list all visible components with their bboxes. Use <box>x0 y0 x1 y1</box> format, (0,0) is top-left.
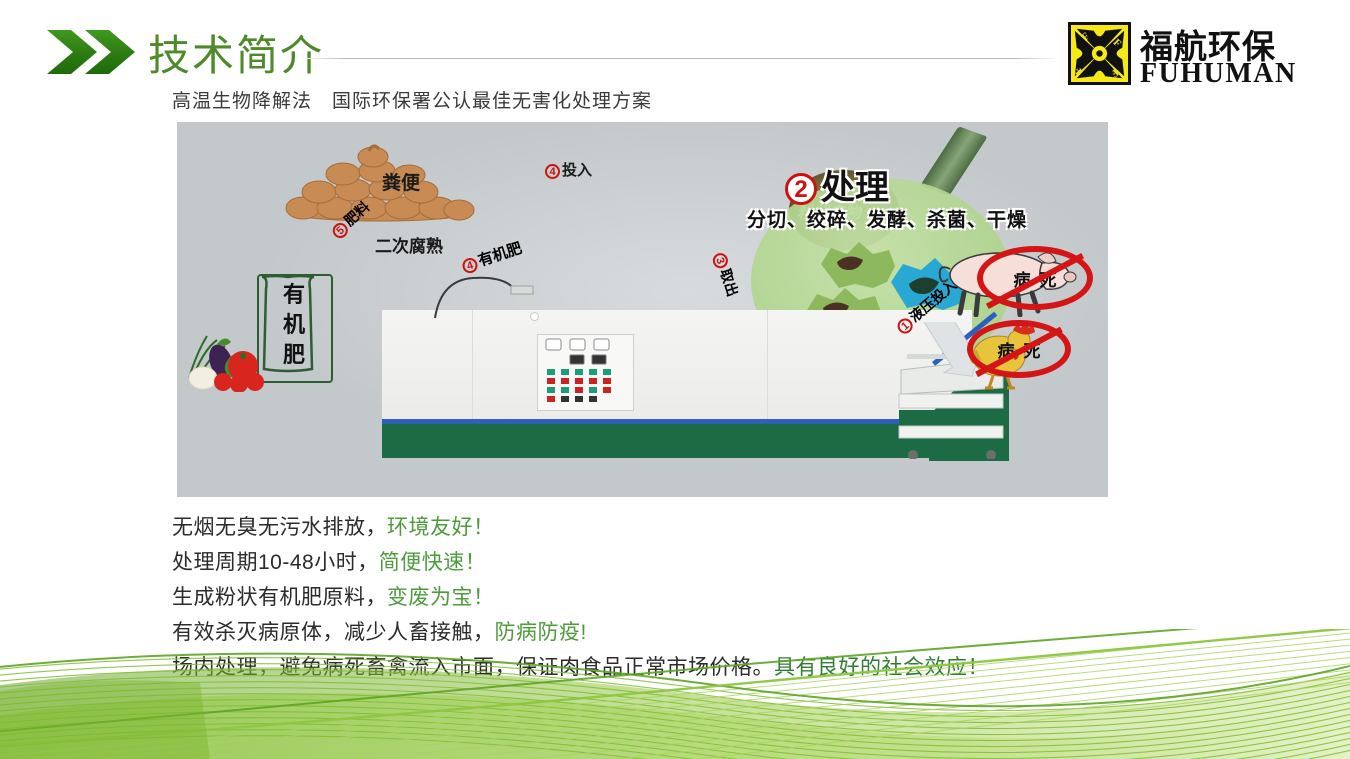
label-second-fermentation: 二次腐熟 <box>375 232 443 257</box>
sack-label: 有机肥 <box>272 280 316 370</box>
list-item: 生成粉状有机肥原料，变废为宝！ <box>172 580 1172 615</box>
bullet-plain: 无烟无臭无污水排放， <box>172 516 387 539</box>
logo-english-name: FUHUMAN <box>1140 58 1297 90</box>
page-subtitle: 高温生物降解法 国际环保署公认最佳无害化处理方案 <box>172 86 652 113</box>
bullet-highlight: 变废为宝！ <box>387 586 495 609</box>
label-manure: 粪便 <box>382 168 420 195</box>
label-process-steps: 分切、绞碎、发酵、杀菌、干燥 <box>747 205 1027 232</box>
label-text: 处理 <box>821 169 889 207</box>
fuhuman-four-petal-gear-icon: F F F F <box>1068 22 1131 85</box>
chicken-prohibited-badge: 病死 <box>967 320 1071 378</box>
list-item: 处理周期10-48小时，简便快速！ <box>172 545 1172 580</box>
bullet-highlight: 环境友好！ <box>387 516 495 539</box>
process-diagram-image: 粪便 4投入 5肥料 二次腐熟 4有机肥 有机肥 <box>177 122 1108 497</box>
pig-prohibited-badge: 病死 <box>977 246 1093 310</box>
bottom-ribbon-decoration <box>0 629 1350 759</box>
label-step4-input: 4投入 <box>545 159 592 180</box>
bullet-plain: 生成粉状有机肥原料， <box>172 586 387 609</box>
title-divider <box>300 58 1060 59</box>
manure-pile-icon <box>285 142 475 222</box>
company-logo: F F F F 福航环保 FUHUMAN <box>1068 22 1333 88</box>
machine-arm-icon <box>429 272 539 322</box>
list-item: 无烟无臭无污水排放，环境友好！ <box>172 510 1172 545</box>
page-title: 技术简介 <box>148 22 324 83</box>
bullet-highlight: 简便快速！ <box>379 551 487 574</box>
machine-green-stripe <box>382 424 942 458</box>
label-text: 投入 <box>562 162 592 179</box>
machine-control-panel[interactable] <box>537 334 634 411</box>
step-number-circle: 2 <box>785 173 817 205</box>
step-number-circle: 4 <box>545 164 560 179</box>
vegetables-icon <box>187 322 277 392</box>
double-chevron-right-icon <box>45 28 145 76</box>
label-step2-process: 2处理 <box>785 160 889 209</box>
bullet-plain: 处理周期10-48小时， <box>172 551 379 574</box>
